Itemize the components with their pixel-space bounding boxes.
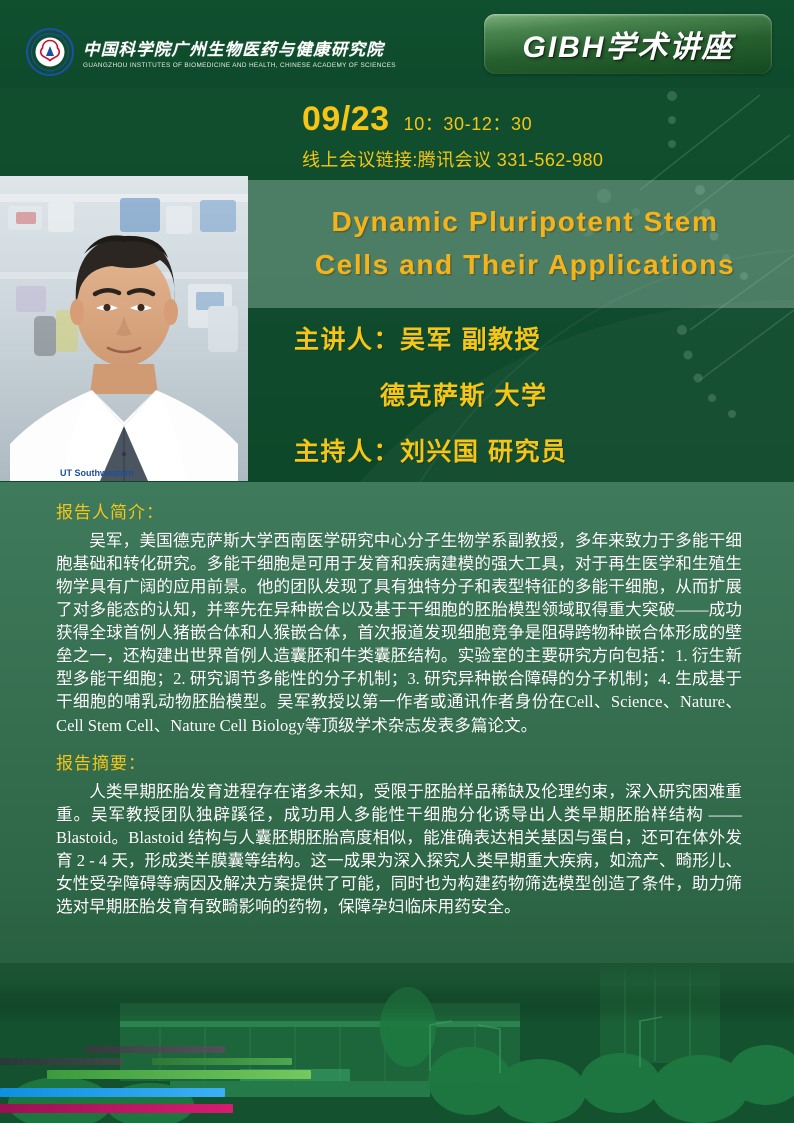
lecture-series-badge-label: GIBH学术讲座 [523, 22, 734, 66]
online-meeting-link[interactable]: 线上会议链接:腾讯会议 331-562-980 [302, 146, 603, 172]
abstract-heading: 报告摘要： [56, 749, 742, 774]
abstract-paragraph: 人类早期胚胎发育进程存在诸多未知，受限于胚胎样品稀缺及伦理约束，深入研究困难重重… [56, 780, 742, 918]
lecture-title-line-1: Dynamic Pluripotent Stem [248, 201, 794, 244]
speaker-affiliation: 德克萨斯 大学 [380, 384, 547, 409]
body-text-container: 报告人简介： 吴军，美国德克萨斯大学西南医学研究中心分子生物学系副教授，多年来致… [0, 482, 794, 918]
institute-name-cn: 中国科学院广州生物医药与健康研究院 [83, 36, 396, 60]
color-bar-green-2 [47, 1070, 311, 1079]
lecture-title-line-2: Cells and Their Applications [248, 244, 794, 287]
poster-root: CHINESE ACADEMY GIBH 中国科学院广州生物医药与健康研究院 G… [0, 0, 794, 1123]
schedule-block: 09/23 10：30-12：30 线上会议链接:腾讯会议 331-562-98… [0, 88, 794, 180]
body-section: 报告人简介： 吴军，美国德克萨斯大学西南医学研究中心分子生物学系副教授，多年来致… [0, 482, 794, 1123]
lecture-date: 09/23 [302, 100, 390, 139]
lecture-time: 10：30-12：30 [404, 110, 533, 136]
color-bar-purple-2 [0, 1058, 122, 1065]
institute-name-block: 中国科学院广州生物医药与健康研究院 GUANGZHOU INSTITUTES O… [83, 36, 396, 69]
institute-name-en: GUANGZHOU INSTITUTES OF BIOMEDICINE AND … [83, 62, 396, 69]
date-time-row: 09/23 10：30-12：30 [302, 100, 532, 139]
color-bar-blue [0, 1088, 225, 1097]
institute-logo-block: CHINESE ACADEMY GIBH 中国科学院广州生物医药与健康研究院 G… [26, 28, 396, 76]
speaker-portrait: UT Southwestern [0, 176, 248, 481]
svg-text:GIBH: GIBH [46, 69, 55, 73]
svg-text:CHINESE ACADEMY: CHINESE ACADEMY [35, 34, 65, 38]
bio-heading: 报告人简介： [56, 498, 742, 523]
color-bar-purple-1 [85, 1046, 225, 1053]
speaker-info-panel: 主讲人：吴军 副教授 德克萨斯 大学 主持人：刘兴国 研究员 [248, 308, 794, 482]
svg-text:UT Southwestern: UT Southwestern [60, 468, 134, 478]
host-name-title: 主持人：刘兴国 研究员 [294, 440, 567, 465]
color-bar-green-1 [152, 1058, 292, 1065]
lecture-title-panel: Dynamic Pluripotent Stem Cells and Their… [248, 180, 794, 308]
decorative-color-bars [0, 1039, 470, 1115]
color-bar-magenta [0, 1104, 233, 1113]
speaker-name-title: 主讲人：吴军 副教授 [294, 328, 541, 353]
gibh-institute-logo-icon: CHINESE ACADEMY GIBH [26, 28, 74, 76]
lecture-series-badge: GIBH学术讲座 [484, 14, 772, 74]
bio-paragraph: 吴军，美国德克萨斯大学西南医学研究中心分子生物学系副教授，多年来致力于多能干细胞… [56, 529, 742, 737]
poster-header: CHINESE ACADEMY GIBH 中国科学院广州生物医药与健康研究院 G… [0, 0, 794, 88]
